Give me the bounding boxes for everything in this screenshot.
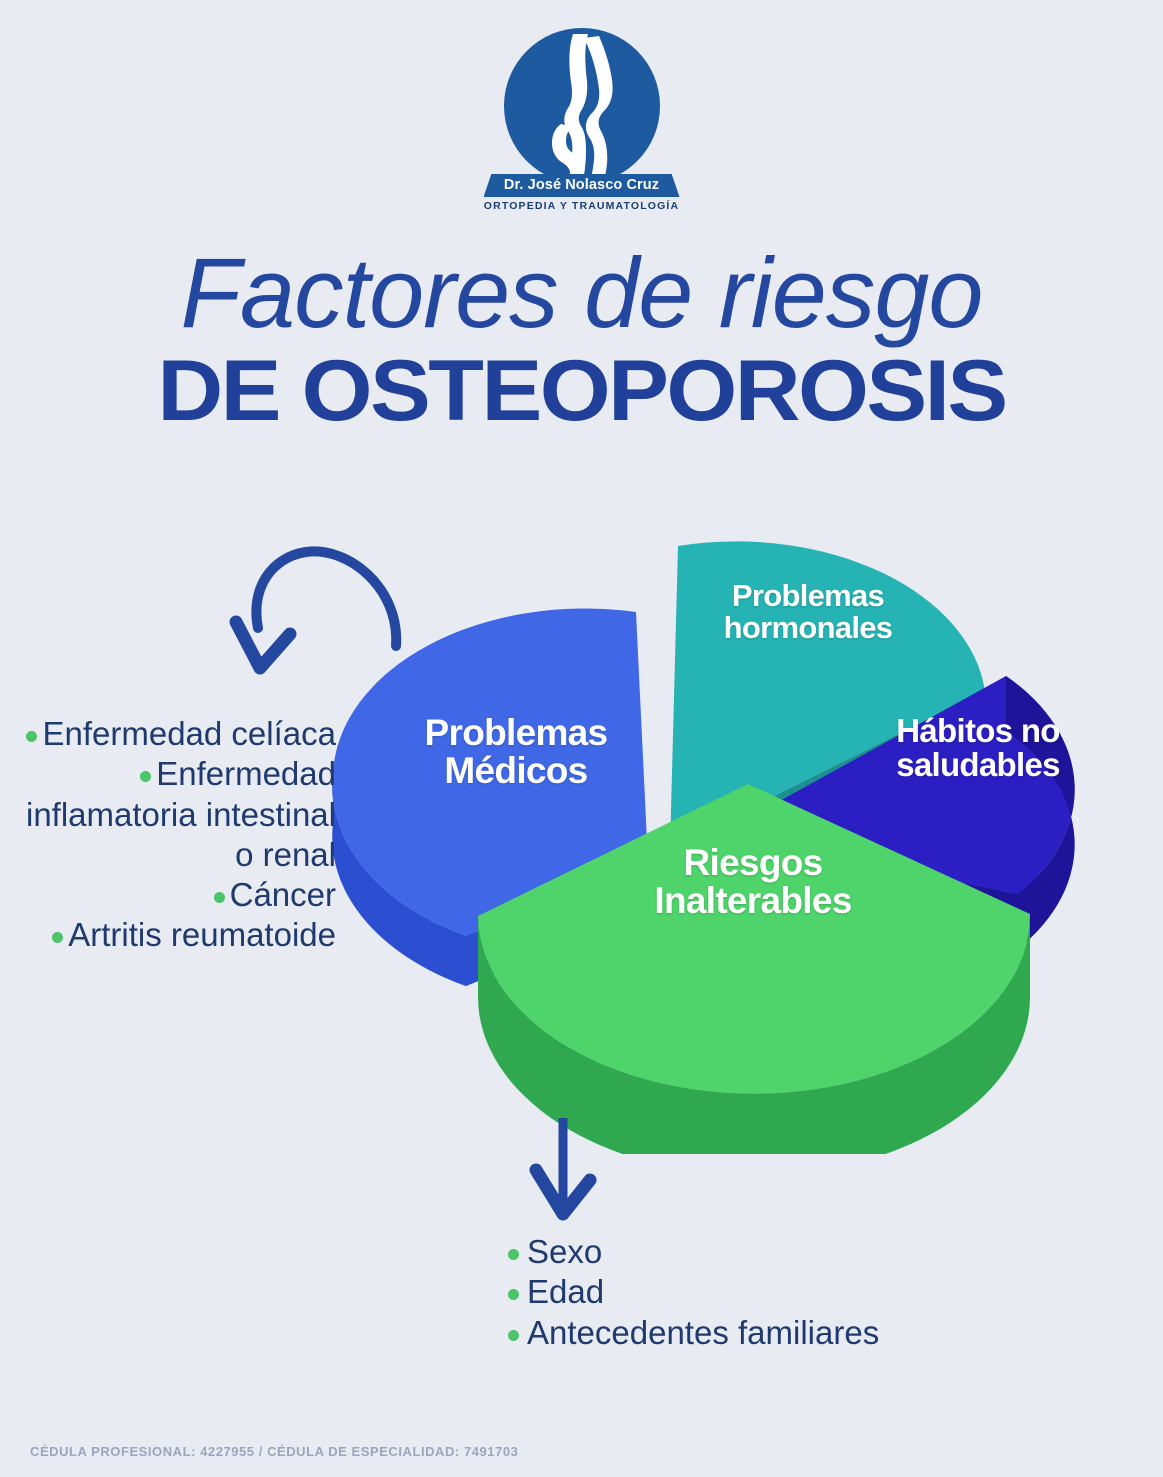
bullet-dot-icon [52, 932, 63, 943]
brand-logo: Dr. José Nolasco Cruz ORTOPEDIA Y TRAUMA… [0, 28, 1163, 218]
knee-joint-icon [499, 28, 665, 194]
list-item-label: Artritis reumatoide [68, 916, 336, 953]
unalterable-risks-list: Sexo Edad Antecedentes familiares [508, 1232, 908, 1353]
list-item-label: Antecedentes familiares [527, 1314, 879, 1351]
page-title-line1: Factores de riesgo [0, 243, 1163, 344]
bullet-dot-icon [508, 1249, 519, 1260]
bullet-dot-icon [214, 892, 225, 903]
bullet-dot-icon [508, 1330, 519, 1341]
risk-factors-pie-chart: Problemas hormonales Hábitos no saludabl… [318, 524, 1148, 1154]
straight-arrow-down-icon [518, 1118, 628, 1231]
list-item-label: Sexo [527, 1233, 602, 1270]
medical-problems-list: Enfermedad celíaca Enfermedad inflamator… [0, 714, 336, 956]
medical-problems-items: Enfermedad celíaca Enfermedad inflamator… [0, 714, 336, 956]
page-title-line2: DE OSTEOPOROSIS [0, 346, 1163, 436]
logo-banner: Dr. José Nolasco Cruz ORTOPEDIA Y TRAUMA… [484, 174, 680, 212]
list-item: Enfermedad celíaca [0, 714, 336, 754]
license-footer: CÉDULA PROFESIONAL: 4227955 / CÉDULA DE … [30, 1444, 518, 1459]
list-item: Antecedentes familiares [508, 1313, 908, 1353]
bullet-dot-icon [26, 731, 37, 742]
list-item: Artritis reumatoide [0, 915, 336, 955]
specialty-label: ORTOPEDIA Y TRAUMATOLOGÍA [484, 200, 680, 212]
bullet-dot-icon [140, 771, 151, 782]
unalterable-risks-items: Sexo Edad Antecedentes familiares [508, 1232, 908, 1353]
list-item: Cáncer [0, 875, 336, 915]
bullet-dot-icon [508, 1289, 519, 1300]
page-title: Factores de riesgo DE OSTEOPOROSIS [0, 243, 1163, 436]
list-item: Edad [508, 1272, 908, 1312]
list-item-label: Cáncer [230, 876, 336, 913]
list-item-label: Enfermedad celíaca [42, 715, 336, 752]
list-item: Sexo [508, 1232, 908, 1272]
list-item-label: Enfermedad inflamatoria intestinal o ren… [26, 755, 336, 873]
list-item: Enfermedad inflamatoria intestinal o ren… [0, 754, 336, 875]
list-item-label: Edad [527, 1273, 604, 1310]
doctor-name: Dr. José Nolasco Cruz [484, 174, 680, 197]
